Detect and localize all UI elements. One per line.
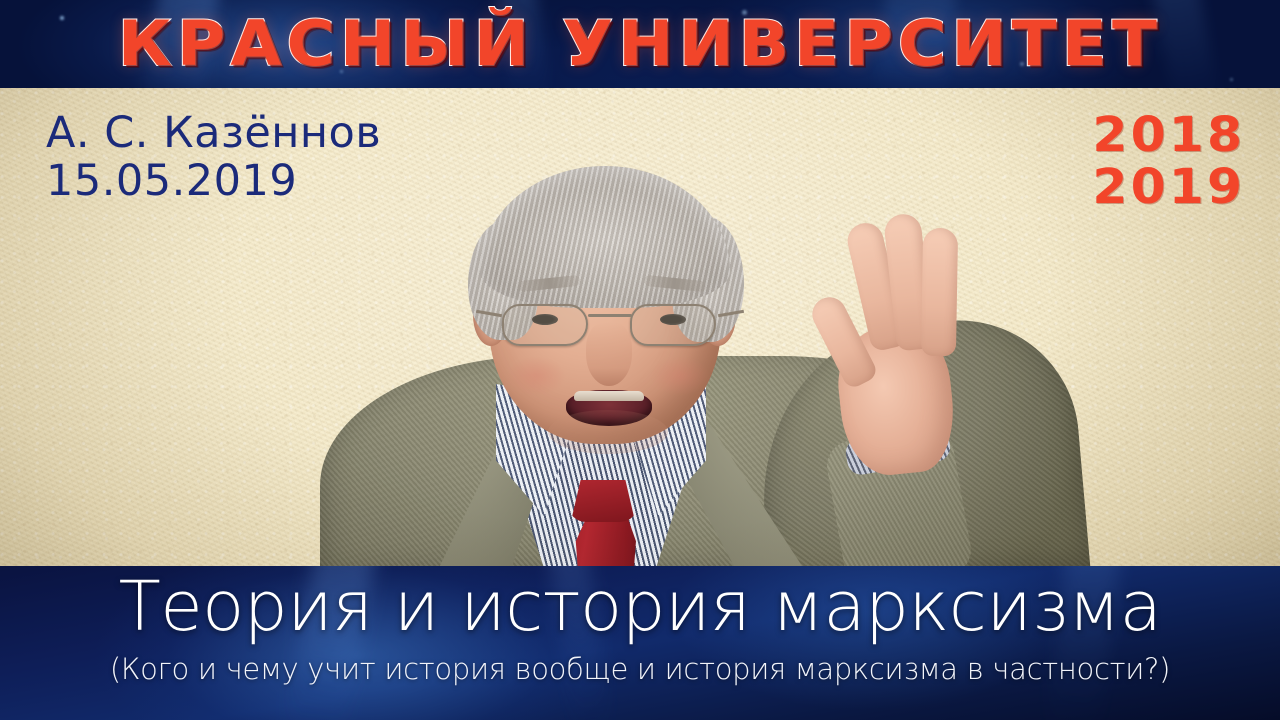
academic-year-badge: 2018 2019: [1093, 110, 1246, 214]
bottom-banner: Теория и история марксизма (Кого и чему …: [0, 566, 1280, 720]
lecture-subtitle: (Кого и чему учит история вообще и истор…: [0, 652, 1280, 686]
lecture-date: 15.05.2019: [46, 156, 381, 207]
lecture-title: Теория и история марксизма: [0, 572, 1280, 642]
academic-year-start: 2018: [1093, 110, 1246, 162]
channel-title: КРАСНЫЙ УНИВЕРСИТЕТ: [0, 0, 1280, 88]
speaker-info: А. С. Казённов 15.05.2019: [46, 110, 381, 207]
video-slide: КРАСНЫЙ УНИВЕРСИТЕТ: [0, 0, 1280, 720]
speaker-name: А. С. Казённов: [46, 110, 381, 156]
academic-year-end: 2019: [1093, 162, 1246, 214]
top-banner: КРАСНЫЙ УНИВЕРСИТЕТ: [0, 0, 1280, 88]
lecture-photo-area: А. С. Казённов 15.05.2019 2018 2019: [0, 88, 1280, 566]
